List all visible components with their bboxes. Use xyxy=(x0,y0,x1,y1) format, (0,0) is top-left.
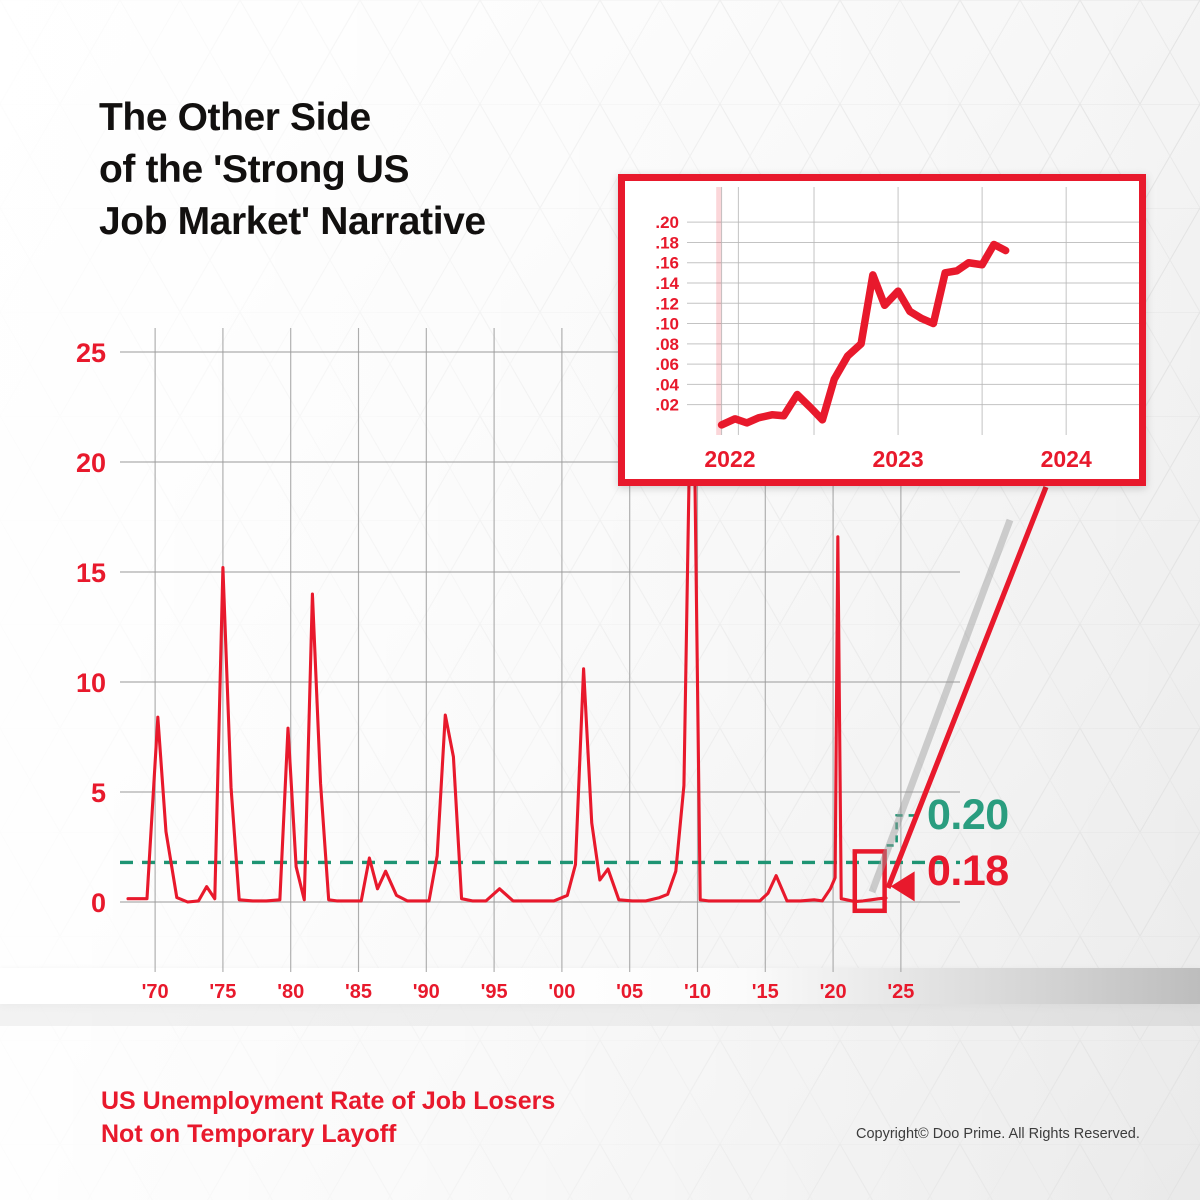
svg-text:.06: .06 xyxy=(655,355,679,374)
svg-text:'70: '70 xyxy=(142,981,169,1003)
svg-text:.08: .08 xyxy=(655,335,679,354)
svg-text:'00: '00 xyxy=(548,981,575,1003)
copyright-notice: Copyright© Doo Prime. All Rights Reserve… xyxy=(856,1126,1140,1142)
svg-text:.10: .10 xyxy=(655,315,679,334)
svg-text:.16: .16 xyxy=(655,254,679,273)
reference-value-label: 0.20 xyxy=(927,791,1009,840)
main-series-line xyxy=(128,460,886,902)
main-chart-y-axis-labels: 0510152025 xyxy=(76,338,106,918)
svg-text:15: 15 xyxy=(76,558,106,588)
svg-text:.04: .04 xyxy=(655,375,679,394)
page-title-line-2: of the 'Strong US xyxy=(99,144,486,196)
svg-text:'85: '85 xyxy=(345,981,372,1003)
svg-text:'20: '20 xyxy=(820,981,847,1003)
svg-text:'80: '80 xyxy=(277,981,304,1003)
svg-text:'95: '95 xyxy=(481,981,508,1003)
svg-text:.12: .12 xyxy=(655,294,679,313)
svg-text:20: 20 xyxy=(76,448,106,478)
svg-text:2024: 2024 xyxy=(1041,446,1092,472)
svg-text:'90: '90 xyxy=(413,981,440,1003)
svg-text:0: 0 xyxy=(91,888,106,918)
svg-text:'05: '05 xyxy=(616,981,643,1003)
page-title: The Other Side of the 'Strong US Job Mar… xyxy=(99,92,486,248)
main-chart-x-axis-labels: '70'75'80'85'90'95'00'05'10'15'20'25 xyxy=(142,981,915,1003)
svg-text:.20: .20 xyxy=(655,213,679,232)
chart-caption-line-2: Not on Temporary Layoff xyxy=(101,1118,555,1151)
page-title-line-1: The Other Side xyxy=(99,92,486,144)
svg-text:2023: 2023 xyxy=(872,446,923,472)
svg-text:10: 10 xyxy=(76,668,106,698)
svg-text:25: 25 xyxy=(76,338,106,368)
page-title-line-3: Job Market' Narrative xyxy=(99,196,486,248)
svg-text:.14: .14 xyxy=(655,274,679,293)
svg-text:.18: .18 xyxy=(655,233,679,252)
chart-caption: US Unemployment Rate of Job Losers Not o… xyxy=(101,1085,555,1151)
inset-series-line xyxy=(722,244,1006,424)
inset-line-chart: .02.04.06.08.10.12.14.16.18.20 202220232… xyxy=(625,181,1139,479)
svg-text:'25: '25 xyxy=(887,981,914,1003)
svg-text:.02: .02 xyxy=(655,396,679,415)
svg-text:5: 5 xyxy=(91,778,106,808)
current-value-label: 0.18 xyxy=(927,847,1009,896)
chart-caption-line-1: US Unemployment Rate of Job Losers xyxy=(101,1085,555,1118)
svg-text:2022: 2022 xyxy=(704,446,755,472)
inset-chart-y-axis-labels: .02.04.06.08.10.12.14.16.18.20 xyxy=(655,213,679,414)
inset-chart-x-axis-labels: 202220232024 xyxy=(704,446,1092,472)
svg-text:'10: '10 xyxy=(684,981,711,1003)
svg-text:'75: '75 xyxy=(209,981,236,1003)
svg-text:'15: '15 xyxy=(752,981,779,1003)
inset-zoom-panel[interactable]: .02.04.06.08.10.12.14.16.18.20 202220232… xyxy=(618,174,1146,486)
